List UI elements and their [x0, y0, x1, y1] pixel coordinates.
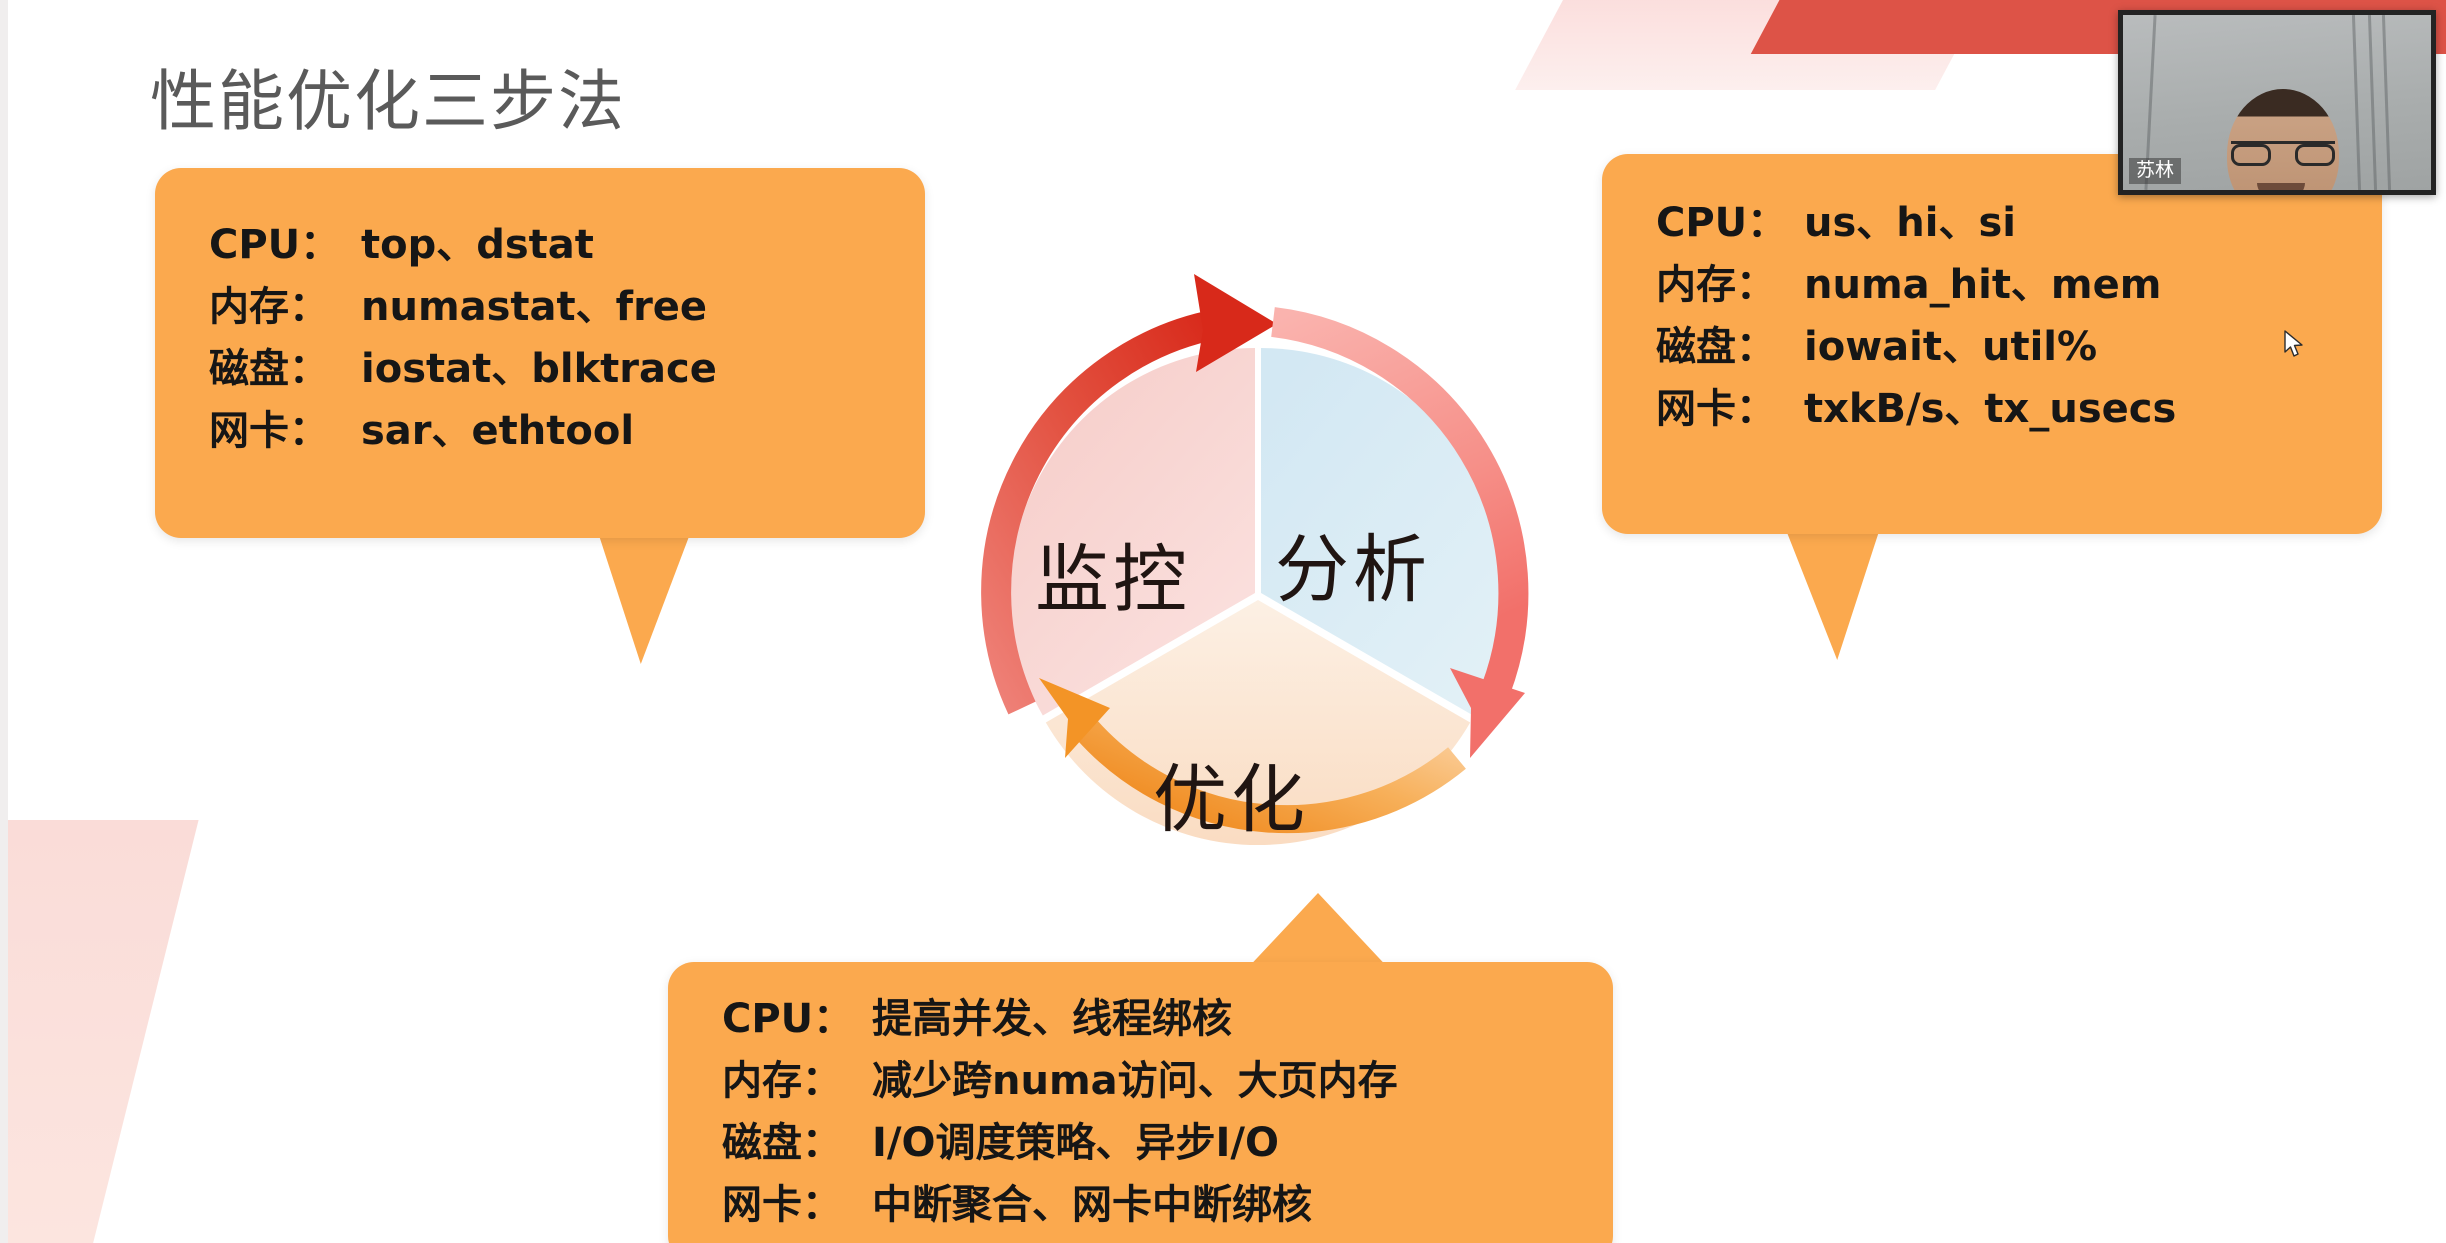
- glasses-right-lens: [2295, 144, 2335, 166]
- callout-monitor-line-disk: 磁盘： iostat、blktrace: [209, 338, 871, 400]
- page-title: 性能优化三步法: [150, 48, 626, 144]
- callout-monitor-line-memory: 内存： numastat、free: [209, 276, 871, 338]
- background-wall-line: [2382, 15, 2391, 190]
- callout-analyze-key-nic: 网卡：: [1656, 378, 1804, 440]
- slide-canvas: 性能优化三步法 CPU： top、dstat 内存： numastat、free…: [0, 0, 2446, 1243]
- callout-analyze-value-disk: iowait、util%: [1804, 316, 2097, 378]
- callout-monitor-value-memory: numastat、free: [361, 276, 707, 338]
- callout-analyze-key-disk: 磁盘：: [1656, 316, 1804, 378]
- callout-monitor-key-cpu: CPU：: [209, 214, 361, 276]
- decor-left-edge: [0, 0, 8, 1243]
- callout-optimize: CPU： 提高并发、线程绑核 内存： 减少跨numa访问、大页内存 磁盘： I/…: [668, 962, 1613, 1243]
- callout-optimize-line-memory: 内存： 减少跨numa访问、大页内存: [722, 1050, 1559, 1112]
- callout-analyze-value-cpu: us、hi、si: [1804, 192, 2016, 254]
- cycle-label-monitor: 监控: [1035, 520, 1191, 627]
- callout-optimize-value-memory: 减少跨numa访问、大页内存: [872, 1050, 1398, 1112]
- callout-monitor: CPU： top、dstat 内存： numastat、free 磁盘： ios…: [155, 168, 925, 538]
- cycle-label-analyze: 分析: [1275, 510, 1431, 617]
- callout-monitor-key-disk: 磁盘：: [209, 338, 361, 400]
- callout-optimize-lines: CPU： 提高并发、线程绑核 内存： 减少跨numa访问、大页内存 磁盘： I/…: [668, 988, 1613, 1236]
- participant-mouth: [2257, 183, 2305, 195]
- mouse-cursor-icon: [2284, 330, 2306, 360]
- callout-optimize-value-disk: I/O调度策略、异步I/O: [872, 1112, 1279, 1174]
- callout-analyze-key-cpu: CPU：: [1656, 192, 1804, 254]
- callout-optimize-key-cpu: CPU：: [722, 988, 872, 1050]
- callout-tail-monitor: [599, 536, 731, 664]
- callout-optimize-line-cpu: CPU： 提高并发、线程绑核: [722, 988, 1559, 1050]
- glasses-icon: [2231, 141, 2335, 168]
- cycle-diagram: 监控 分析 优化: [905, 238, 1605, 938]
- callout-optimize-line-nic: 网卡： 中断聚合、网卡中断绑核: [722, 1174, 1559, 1236]
- callout-monitor-key-memory: 内存：: [209, 276, 361, 338]
- callout-analyze-line-nic: 网卡： txkB/s、tx_usecs: [1656, 378, 2328, 440]
- callout-monitor-line-cpu: CPU： top、dstat: [209, 214, 871, 276]
- background-wall-line: [2352, 15, 2361, 190]
- callout-tail-analyze: [1745, 532, 1879, 660]
- callout-analyze-value-nic: txkB/s、tx_usecs: [1804, 378, 2176, 440]
- callout-optimize-value-nic: 中断聚合、网卡中断绑核: [872, 1174, 1312, 1236]
- callout-analyze-line-memory: 内存： numa_hit、mem: [1656, 254, 2328, 316]
- participant-name-label: 苏林: [2129, 158, 2181, 184]
- callout-analyze-line-cpu: CPU： us、hi、si: [1656, 192, 2328, 254]
- callout-analyze: CPU： us、hi、si 内存： numa_hit、mem 磁盘： iowai…: [1602, 154, 2382, 534]
- glasses-left-lens: [2231, 144, 2271, 166]
- callout-analyze-lines: CPU： us、hi、si 内存： numa_hit、mem 磁盘： iowai…: [1602, 192, 2382, 440]
- callout-optimize-key-nic: 网卡：: [722, 1174, 872, 1236]
- callout-analyze-line-disk: 磁盘： iowait、util%: [1656, 316, 2328, 378]
- callout-monitor-value-cpu: top、dstat: [361, 214, 594, 276]
- callout-monitor-value-nic: sar、ethtool: [361, 400, 634, 462]
- background-wall-line: [2368, 15, 2377, 190]
- decor-shape-bottom-left: [0, 820, 199, 1243]
- callout-monitor-key-nic: 网卡：: [209, 400, 361, 462]
- callout-monitor-value-disk: iostat、blktrace: [361, 338, 717, 400]
- callout-analyze-value-memory: numa_hit、mem: [1804, 254, 2161, 316]
- callout-analyze-key-memory: 内存：: [1656, 254, 1804, 316]
- decor-shape-top-left: [1515, 0, 2015, 90]
- video-thumbnail[interactable]: 苏林: [2118, 10, 2436, 195]
- callout-monitor-lines: CPU： top、dstat 内存： numastat、free 磁盘： ios…: [155, 214, 925, 462]
- callout-optimize-value-cpu: 提高并发、线程绑核: [872, 988, 1232, 1050]
- cycle-label-optimize: 优化: [1153, 740, 1309, 847]
- callout-optimize-line-disk: 磁盘： I/O调度策略、异步I/O: [722, 1112, 1559, 1174]
- callout-optimize-key-disk: 磁盘：: [722, 1112, 872, 1174]
- callout-optimize-key-memory: 内存：: [722, 1050, 872, 1112]
- callout-monitor-line-nic: 网卡： sar、ethtool: [209, 400, 871, 462]
